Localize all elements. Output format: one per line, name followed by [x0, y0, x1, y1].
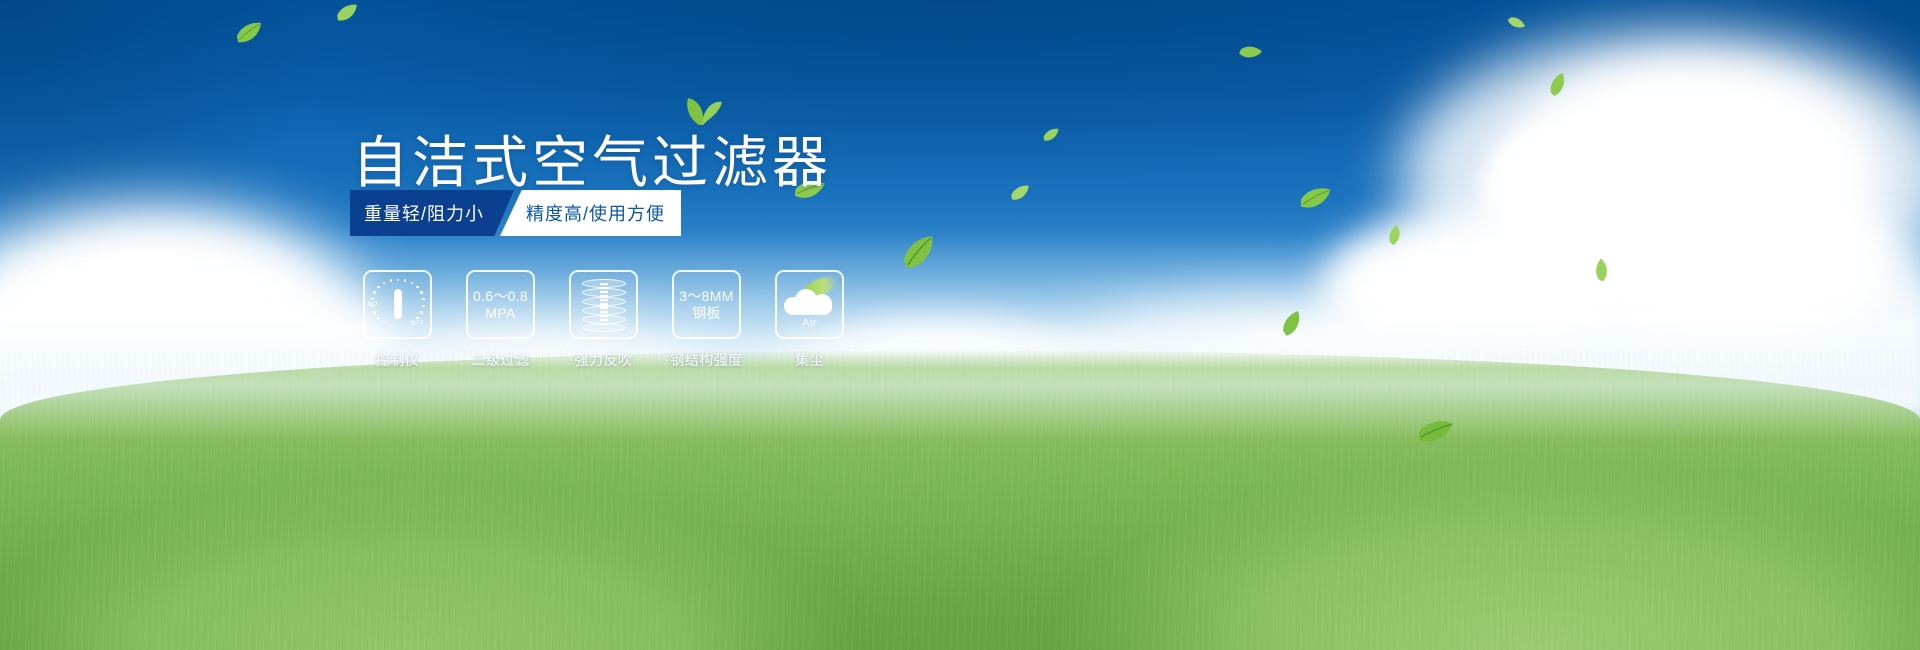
steel-plate-sub-text: 钢板 — [692, 305, 721, 322]
grass-horizon-haze — [0, 320, 1920, 440]
banner-stage: 自洁式空气过滤器 重量轻/阻力小 精度高/使用方便 NO OFF — [0, 0, 1920, 650]
steel-plate-text-icon: 3～8MM — [679, 288, 733, 305]
page-title: 自洁式空气过滤器 — [352, 118, 832, 199]
filter-cartridge-icon — [581, 279, 627, 331]
leaf-icon — [236, 22, 262, 44]
air-label: Air — [782, 317, 838, 329]
switch-label-off: OFF — [411, 321, 425, 327]
pressure-text-icon: 0.6～0.8 — [473, 288, 528, 305]
feature-box: 3～8MM 钢板 — [672, 270, 741, 339]
feature-box: Air — [775, 270, 844, 339]
leaf-icon — [1237, 40, 1263, 65]
leaf-icon — [1298, 184, 1332, 214]
feature-item-two-stage-filter[interactable]: 0.6～0.8 MPA 二级过滤 — [461, 270, 540, 370]
feature-box: NO OFF — [363, 270, 432, 339]
feature-item-dust-collection[interactable]: Air 集尘 — [770, 270, 849, 370]
leaf-icon — [1043, 128, 1059, 142]
feature-item-steel-strength[interactable]: 3～8MM 钢板 钢结构强度 — [667, 270, 746, 370]
feature-box — [569, 270, 638, 339]
pressure-unit-text: MPA — [485, 305, 515, 322]
feature-caption: 钢结构强度 — [670, 350, 743, 370]
feature-tag-row: 重量轻/阻力小 精度高/使用方便 — [350, 190, 681, 236]
feature-caption: 控制仪 — [376, 350, 420, 370]
feature-item-pulse-blowback[interactable]: 强力反吹 — [564, 270, 643, 370]
tag-weight-resistance[interactable]: 重量轻/阻力小 — [350, 190, 514, 236]
leaf-icon — [1010, 185, 1030, 201]
feature-caption: 强力反吹 — [575, 350, 633, 370]
feature-caption: 二级过滤 — [472, 350, 530, 370]
cloud-air-icon: Air — [782, 283, 838, 327]
leaf-icon — [336, 4, 358, 22]
feature-caption: 集尘 — [795, 350, 824, 370]
tag-precision-convenience[interactable]: 精度高/使用方便 — [500, 190, 681, 236]
feature-item-control-instrument[interactable]: NO OFF — [358, 270, 437, 370]
power-switch-icon: NO OFF — [369, 276, 427, 334]
cloud-base — [788, 299, 832, 315]
switch-lever — [394, 289, 402, 319]
feature-box: 0.6～0.8 MPA — [466, 270, 535, 339]
feature-icon-row: NO OFF — [358, 270, 849, 370]
